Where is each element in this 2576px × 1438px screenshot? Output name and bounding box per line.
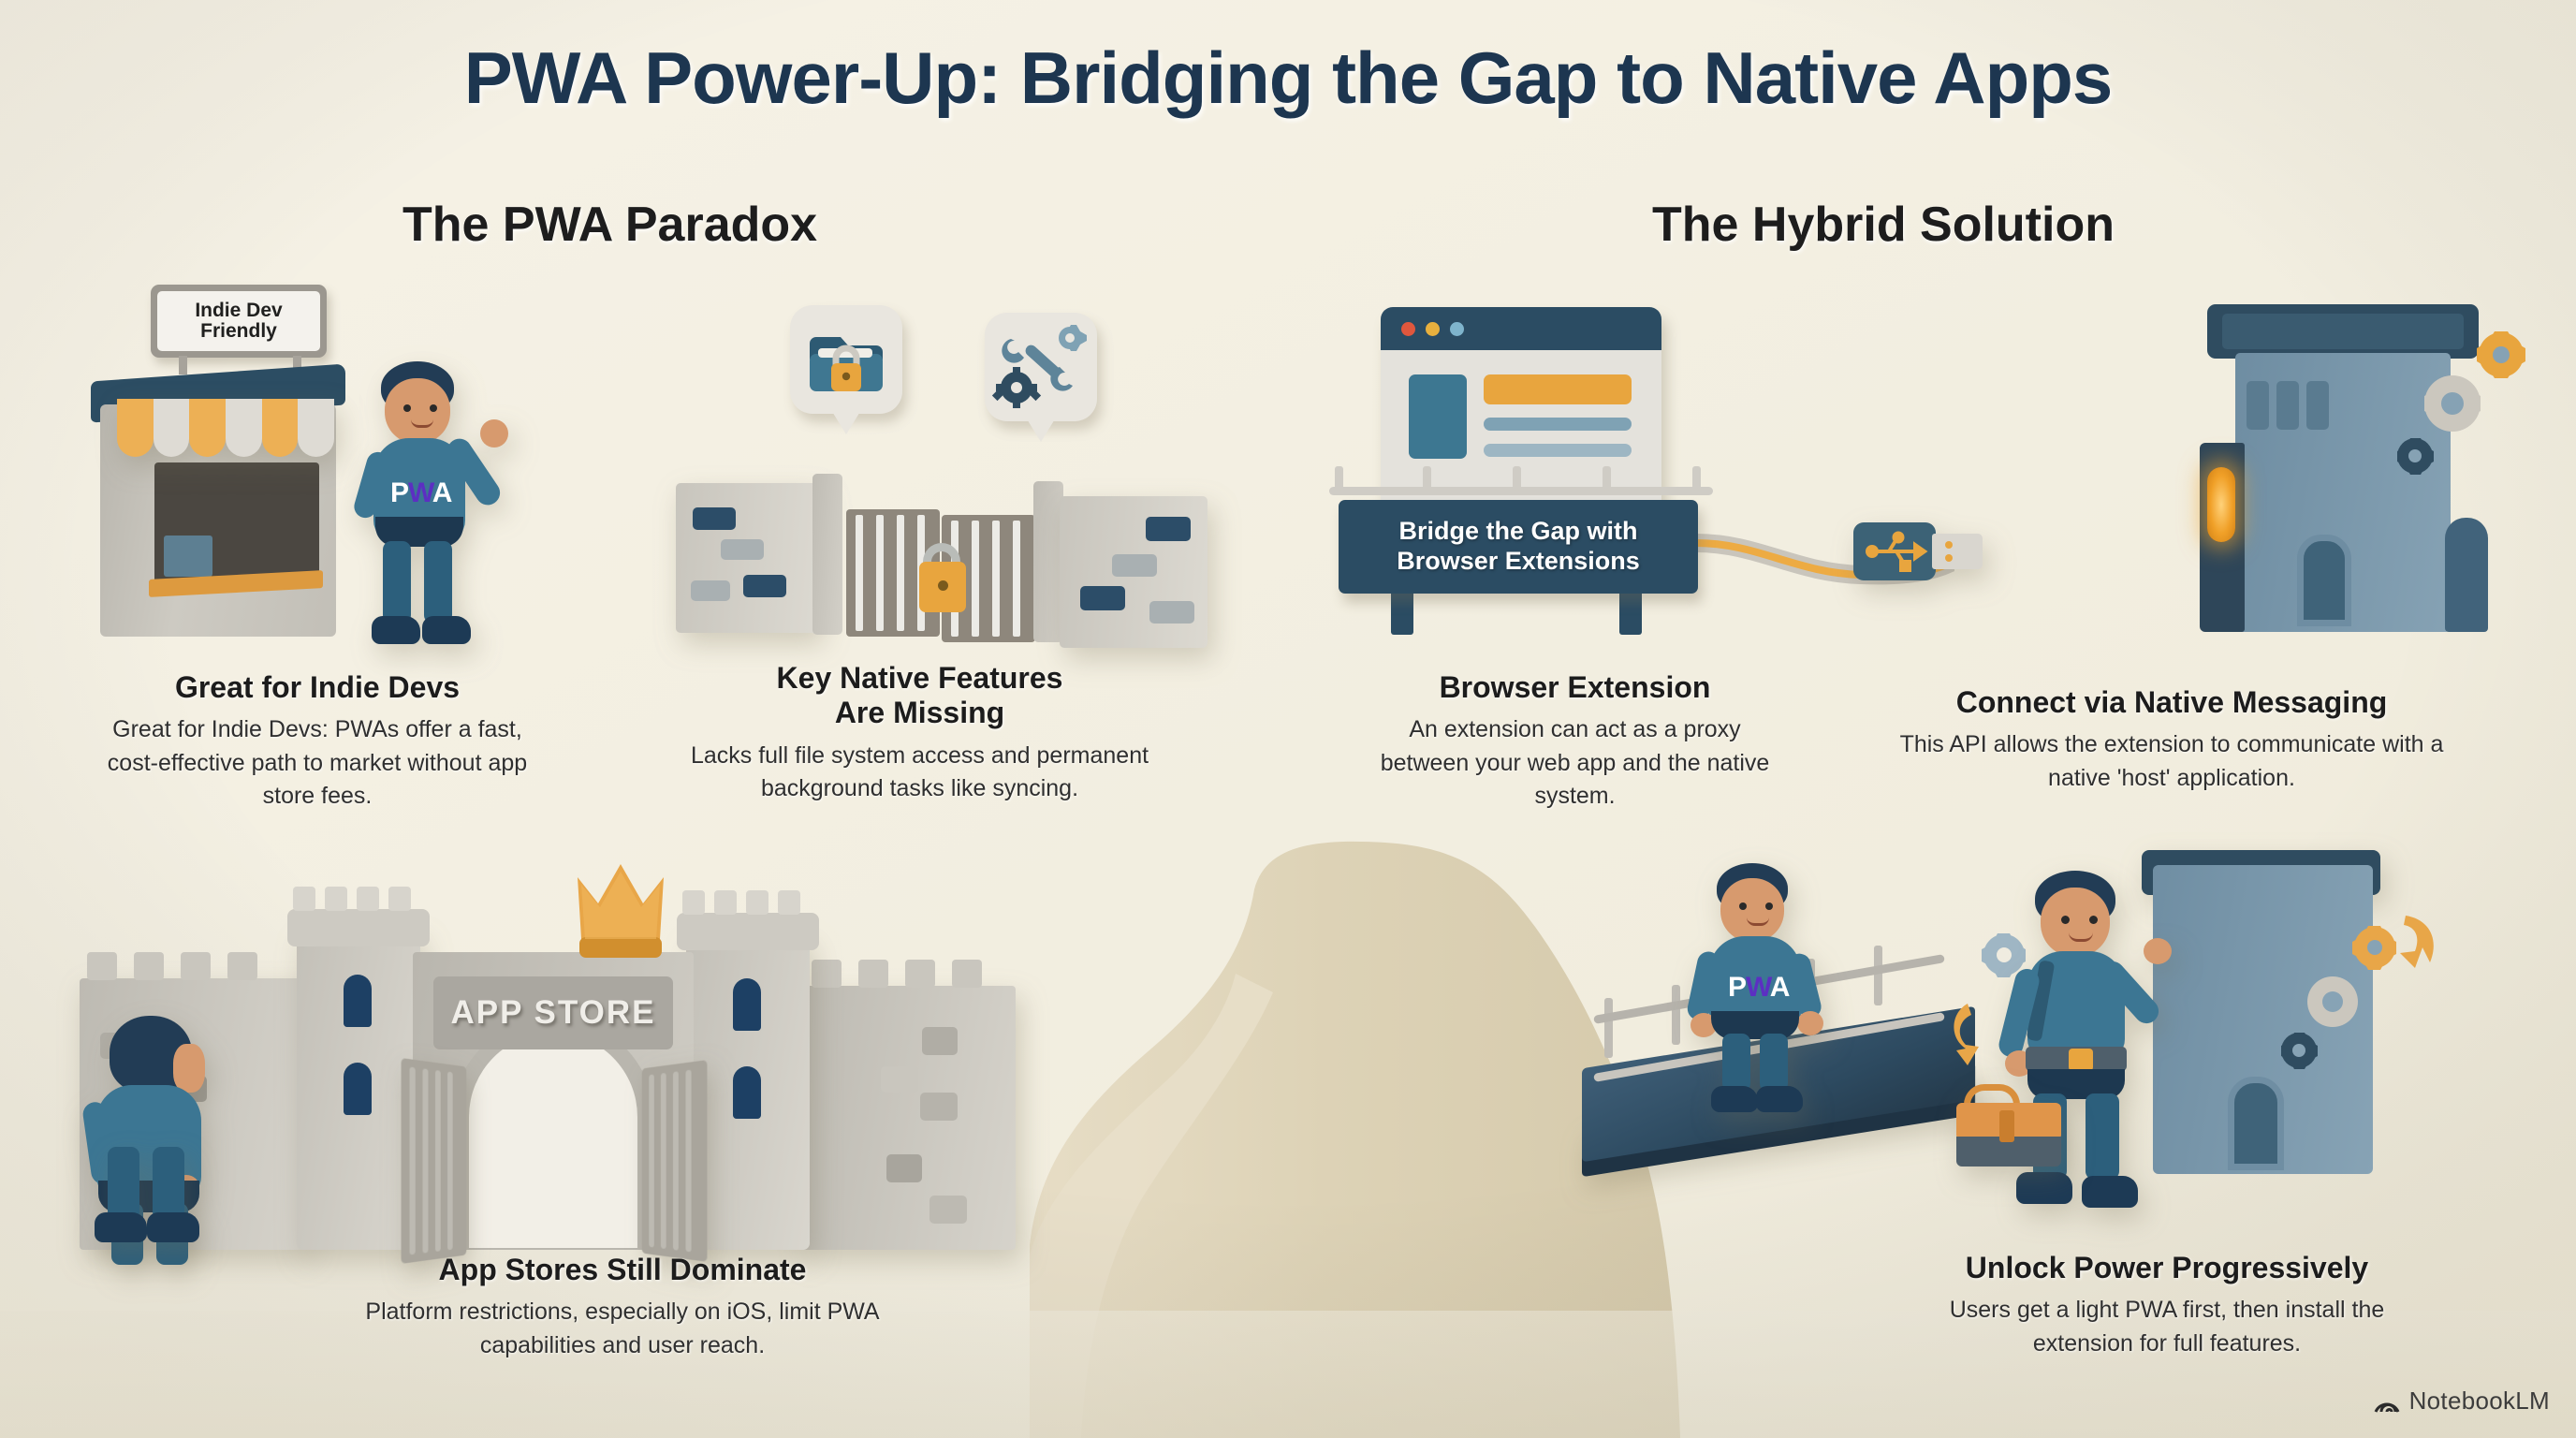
notebooklm-arc-icon	[2373, 1389, 2401, 1414]
card-title: Unlock Power Progressively	[1905, 1251, 2429, 1285]
usb-pin	[1945, 554, 1953, 562]
usb-housing	[1853, 522, 1936, 580]
awning-stripe	[262, 399, 299, 457]
speech-bubble-background-tasks	[985, 313, 1097, 421]
shirt-pwa-logo: PWA	[1728, 972, 1789, 1004]
eye-left	[2061, 916, 2070, 924]
factory-window	[2247, 381, 2269, 430]
padlock-keyhole	[938, 580, 948, 591]
factory-window	[2306, 381, 2329, 430]
browser-accent-bar	[1484, 374, 1632, 404]
browser-titlebar	[1381, 307, 1661, 350]
wall-brick	[1146, 517, 1191, 541]
toolbox-latch	[1999, 1110, 2014, 1142]
card-body: An extension can act as a proxy between …	[1362, 713, 1788, 814]
toolbox-handle	[1964, 1084, 2020, 1105]
usb-icon	[1853, 522, 1936, 580]
window-minimize-dot	[1426, 322, 1440, 336]
eye-right	[2089, 916, 2098, 924]
card-caption-app-stores: App Stores Still Dominate Platform restr…	[332, 1253, 913, 1362]
tower-arrow-slit	[733, 1066, 761, 1119]
page-title: PWA Power-Up: Bridging the Gap to Native…	[0, 36, 2576, 121]
banner-leg	[1619, 590, 1642, 635]
banner-rail	[1329, 487, 1713, 495]
awning-stripe	[189, 399, 226, 457]
tower-crenel-base-right	[677, 913, 819, 950]
card-caption-unlock-power: Unlock Power Progressively Users get a l…	[1905, 1251, 2429, 1360]
wall-left	[676, 483, 818, 633]
usb-pin	[1945, 541, 1953, 549]
eye-right	[430, 404, 437, 412]
tower-arrow-slit	[344, 1063, 372, 1115]
bridge-post	[1874, 946, 1882, 1005]
rail-post	[1692, 466, 1701, 491]
awning-stripe	[154, 399, 190, 457]
banner-leg	[1391, 590, 1413, 635]
factory-door	[2297, 535, 2351, 626]
section-title-paradox: The PWA Paradox	[402, 197, 817, 253]
factory-entry-block	[2200, 443, 2245, 632]
card-title: App Stores Still Dominate	[332, 1253, 913, 1287]
castle-merlon	[87, 952, 117, 980]
card-title-line-2: Are Missing	[683, 696, 1156, 730]
window-close-dot	[1401, 322, 1415, 336]
browser-sidebar-block	[1409, 374, 1467, 459]
wall-brick	[721, 539, 764, 560]
tower-tooth	[388, 887, 411, 911]
castle-merlon	[134, 952, 164, 980]
awning-stripe	[117, 399, 154, 457]
belt-buckle	[2069, 1049, 2093, 1071]
wall-right	[1060, 496, 1207, 648]
bridge-banner: Bridge the Gap with Browser Extensions	[1339, 500, 1698, 594]
watermark: NotebookLM	[2373, 1387, 2550, 1416]
leg-left	[383, 541, 411, 624]
castle-brick	[929, 1196, 967, 1224]
wall-brick	[1149, 601, 1194, 624]
castle-merlon	[227, 952, 257, 980]
card-title-line-1: Key Native Features	[683, 661, 1156, 696]
character-pwa-developer: PWA	[359, 361, 536, 652]
shop-awning	[117, 399, 334, 457]
card-title: Browser Extension	[1362, 670, 1788, 705]
shop-sign-text: Indie Dev Friendly	[157, 291, 320, 351]
factory-side-pipe	[2445, 518, 2488, 632]
wall-brick	[1112, 554, 1157, 577]
castle-archway	[469, 1033, 637, 1248]
wrench-and-gears-icon	[985, 313, 1097, 421]
castle-brick	[881, 1066, 918, 1093]
head-side	[173, 1044, 205, 1093]
native-building-gear-cluster	[2265, 899, 2452, 1142]
window-maximize-dot	[1450, 322, 1464, 336]
app-store-plaque: APP STORE	[433, 976, 673, 1049]
toolbox	[1956, 1084, 2061, 1167]
speech-bubble-file-access	[790, 305, 902, 414]
hand-right	[2144, 938, 2172, 964]
usb-metal-tip	[1932, 534, 1983, 569]
tower-tooth	[293, 887, 315, 911]
shoe-left	[95, 1212, 147, 1242]
castle-merlon	[181, 952, 211, 980]
bubble-tail-right	[1026, 418, 1056, 442]
castle-merlon	[812, 960, 842, 988]
bridge-post	[1604, 998, 1613, 1058]
shoe-right	[147, 1212, 199, 1242]
hand-right	[1797, 1011, 1823, 1035]
card-caption-browser-extension: Browser Extension An extension can act a…	[1362, 670, 1788, 814]
rail-post	[1335, 466, 1343, 491]
awning-stripe	[226, 399, 262, 457]
tower-arrow-slit	[344, 975, 372, 1027]
castle-brick	[920, 1093, 958, 1121]
card-body: Users get a light PWA first, then instal…	[1905, 1294, 2429, 1360]
eye-left	[403, 404, 411, 412]
gate-pillar-left	[812, 474, 842, 635]
tower-tooth	[714, 890, 737, 915]
eye-left	[1739, 902, 1747, 910]
shoe-left	[372, 616, 420, 644]
shop-product-box	[164, 536, 212, 577]
tower-tooth	[682, 890, 705, 915]
eye-right	[1765, 902, 1773, 910]
leg-right	[2086, 1093, 2119, 1180]
card-caption-missing-features: Key Native Features Are Missing Lacks fu…	[683, 661, 1156, 806]
factory-glow-light	[2207, 467, 2235, 542]
illustration-locked-gate-wall	[655, 298, 1226, 649]
locked-folder-icon	[790, 305, 902, 414]
banner-line-2: Browser Extensions	[1397, 547, 1640, 577]
wall-brick	[1080, 586, 1125, 610]
leg-right	[424, 541, 452, 624]
tower-arrow-slit	[733, 978, 761, 1031]
tower-tooth	[746, 890, 768, 915]
leg-right	[153, 1147, 184, 1220]
factory-gear-cluster	[2383, 330, 2542, 518]
leg-left	[1722, 1034, 1750, 1092]
illustration-storefront-with-pwa-developer: Indie Dev Friendly PWA	[89, 281, 613, 655]
character-pwa-developer-on-bridge: PWA	[1692, 863, 1851, 1099]
head	[1720, 878, 1784, 942]
browser-text-bar	[1484, 444, 1632, 457]
sign-post-left	[179, 356, 187, 374]
castle-merlon	[952, 960, 982, 988]
factory-window	[2276, 381, 2299, 430]
castle-gate-door-left	[402, 1058, 467, 1264]
app-store-plaque-text: APP STORE	[451, 994, 656, 1032]
character-developer-lower-body	[87, 1147, 274, 1269]
head	[385, 378, 450, 444]
hand-right	[480, 419, 508, 448]
rail-post	[1423, 466, 1431, 491]
bridge-banner-text: Bridge the Gap with Browser Extensions	[1397, 517, 1640, 577]
shoe-left	[1711, 1086, 1758, 1112]
card-caption-indie-devs: Great for Indie Devs Great for Indie Dev…	[97, 670, 537, 814]
castle-merlon	[858, 960, 888, 988]
leg-left	[108, 1147, 139, 1220]
illustration-native-host-factory	[2200, 304, 2537, 651]
illustration-bridge-to-native: PWA	[1582, 843, 2537, 1259]
tower-tooth	[357, 887, 379, 911]
watermark-label: NotebookLM	[2409, 1387, 2550, 1416]
card-caption-native-messaging: Connect via Native Messaging This API al…	[1891, 685, 2452, 795]
card-title: Connect via Native Messaging	[1891, 685, 2452, 720]
head	[2041, 888, 2110, 957]
illustration-browser-extension-banner: Bridge the Gap with Browser Extensions	[1329, 300, 1947, 655]
shoe-right	[1756, 1086, 1803, 1112]
usb-connector	[1853, 522, 1984, 580]
card-body: Platform restrictions, especially on iOS…	[332, 1296, 913, 1362]
wall-brick	[743, 575, 786, 597]
castle-brick	[886, 1154, 922, 1182]
shoe-right	[2082, 1176, 2138, 1208]
card-title: Great for Indie Devs	[97, 670, 537, 705]
castle-gate-door-right	[642, 1060, 708, 1262]
tower-tooth	[778, 890, 800, 915]
wall-brick	[691, 580, 730, 601]
castle-merlon	[905, 960, 935, 988]
castle-brick	[922, 1027, 958, 1055]
bridge-post	[1672, 985, 1680, 1045]
bubble-tail-left	[831, 410, 861, 434]
shirt-pwa-logo: PWA	[390, 477, 451, 509]
card-body: This API allows the extension to communi…	[1891, 728, 2452, 795]
awning-stripe	[298, 399, 334, 457]
card-body: Great for Indie Devs: PWAs offer a fast,…	[97, 713, 537, 814]
banner-line-1: Bridge the Gap with	[1397, 517, 1640, 547]
browser-text-bar	[1484, 418, 1632, 431]
castle-wall-right	[800, 986, 1016, 1250]
card-body: Lacks full file system access and perman…	[683, 740, 1156, 806]
leg-right	[1760, 1034, 1788, 1092]
rail-post	[1513, 466, 1521, 491]
crown-icon	[576, 858, 666, 961]
tower-tooth	[325, 887, 347, 911]
shoe-left	[2016, 1172, 2072, 1204]
shoe-right	[422, 616, 471, 644]
wall-brick	[693, 507, 736, 530]
shop-sign: Indie Dev Friendly	[151, 285, 327, 358]
rail-post	[1603, 466, 1611, 491]
tower-crenel-base-left	[287, 909, 430, 946]
section-title-hybrid: The Hybrid Solution	[1652, 197, 2115, 253]
